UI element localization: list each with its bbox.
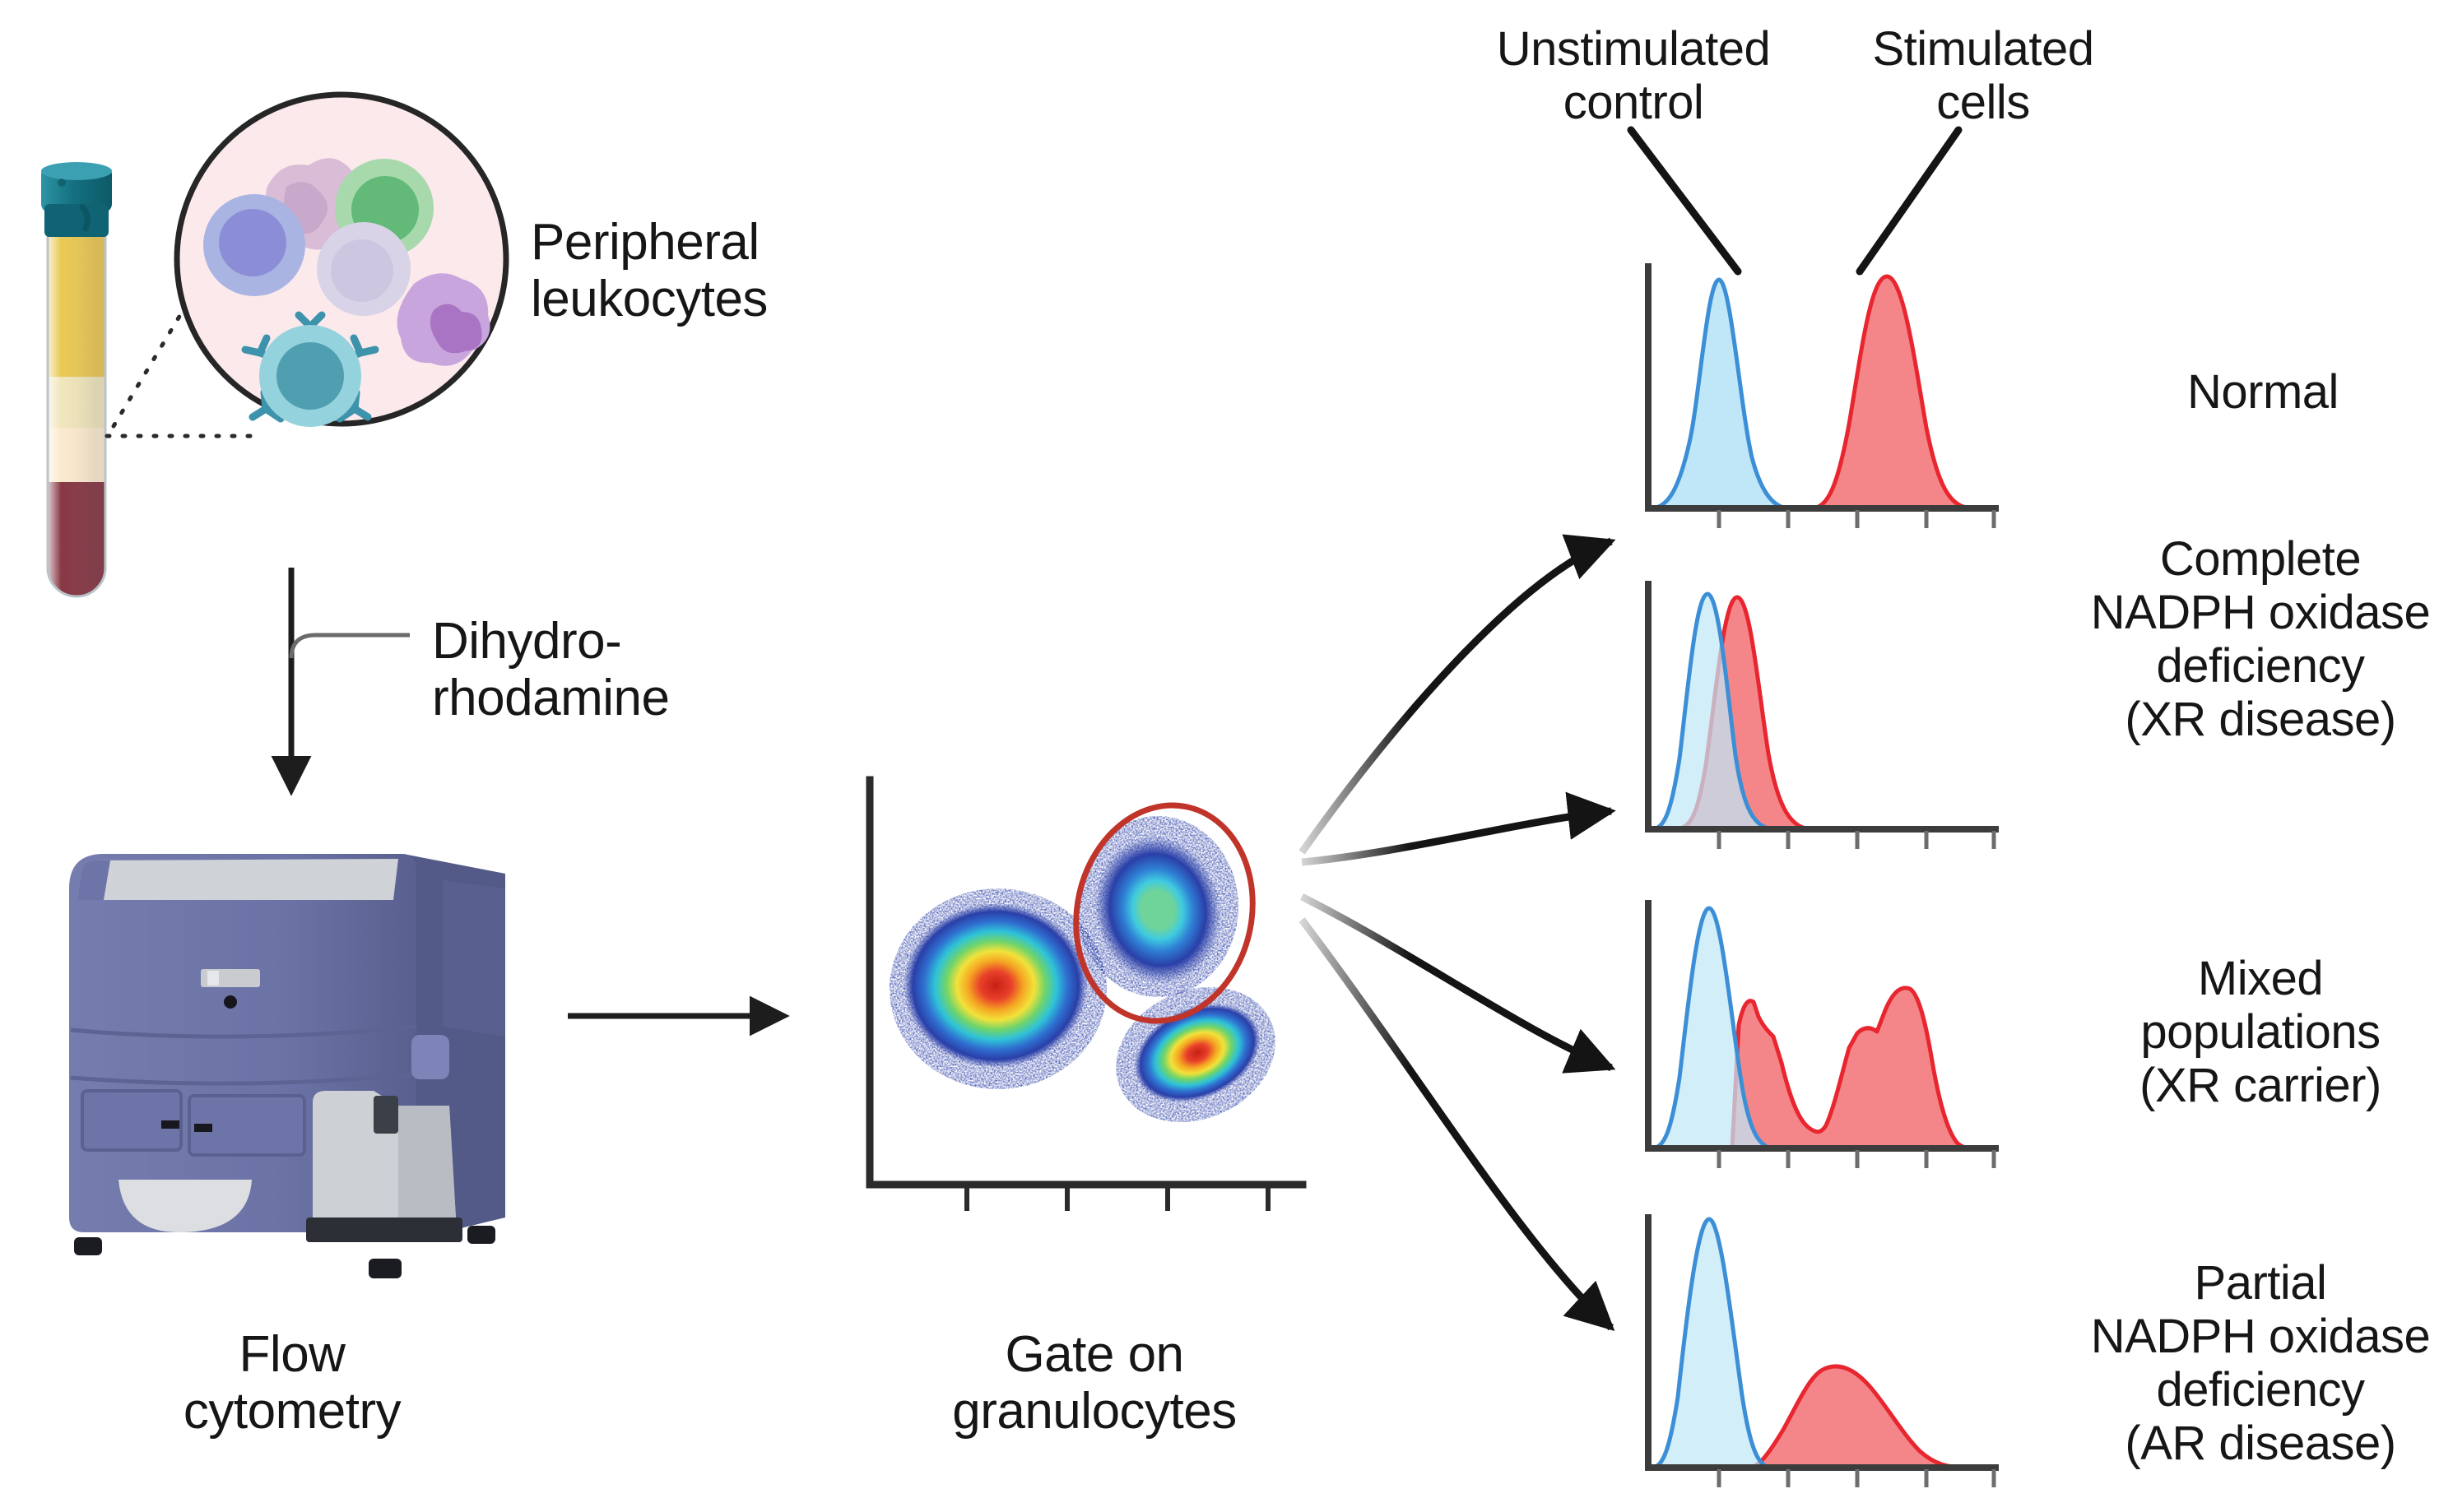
- flow-cytometry-line1: Flow: [99, 1326, 485, 1383]
- flow-cytometer-instrument: [39, 831, 541, 1292]
- arrow-to-normal-panel: [1302, 541, 1611, 852]
- panel-x-ticks-partial: [1719, 1469, 1994, 1487]
- panel-label-normal: Normal: [2082, 366, 2444, 420]
- panel-label-mixed-line1: Mixed: [2067, 953, 2453, 1006]
- panel-label-complete-deficiency: Complete NADPH oxidase deficiency (XR di…: [2067, 533, 2453, 747]
- gate-caption-line2: granulocytes: [864, 1383, 1325, 1440]
- stimulated-header-line2: cells: [1823, 77, 2144, 130]
- panel-label-partial-line2: NADPH oxidase: [2067, 1310, 2453, 1364]
- stimulated-cells-header: Stimulated cells: [1823, 23, 2144, 130]
- panel-label-normal-line1: Normal: [2082, 366, 2444, 420]
- instrument-to-scatter-arrow: [568, 991, 815, 1041]
- histogram-panel-mixed-populations: [1633, 887, 2024, 1179]
- peripheral-leukocytes-label: Peripheral leukocytes: [531, 214, 876, 328]
- dihydrorhodamine-line1: Dihydro-: [432, 613, 819, 670]
- gate-caption-line1: Gate on: [864, 1326, 1325, 1383]
- scatter-x-ticks: [967, 1187, 1268, 1211]
- unstimulated-curve-partial: [1652, 1219, 1772, 1468]
- leukocyte-lymphocyte: [203, 194, 305, 296]
- panel-x-ticks-complete: [1719, 831, 1994, 849]
- panel-label-mixed-line3: (XR carrier): [2067, 1060, 2453, 1113]
- unstimulated-control-header: Unstimulated control: [1456, 23, 1810, 130]
- histogram-panel-partial-deficiency: [1633, 1206, 2024, 1498]
- flow-cytometry-caption: Flow cytometry: [99, 1326, 485, 1440]
- arrow-to-complete-panel: [1302, 811, 1611, 862]
- panel-x-ticks-normal: [1719, 510, 1994, 528]
- panel-label-partial-line1: Partial: [2067, 1257, 2453, 1310]
- histogram-panel-complete-deficiency: [1633, 568, 2024, 860]
- scatter-population-monocytes: [1094, 962, 1297, 1147]
- peripheral-leukocytes-line2: leukocytes: [531, 271, 876, 327]
- peripheral-leukocyte-magnifier: [169, 86, 514, 432]
- unstimulated-header-line2: control: [1456, 77, 1810, 130]
- flow-cytometry-line2: cytometry: [99, 1383, 485, 1440]
- panel-label-partial-line3: deficiency: [2067, 1364, 2453, 1417]
- panel-label-partial-deficiency: Partial NADPH oxidase deficiency (AR dis…: [2067, 1257, 2453, 1471]
- panel-label-mixed-populations: Mixed populations (XR carrier): [2067, 953, 2453, 1113]
- panel-x-ticks-mixed: [1719, 1150, 1994, 1168]
- granulocyte-gating-scatter-plot: [852, 773, 1362, 1250]
- stimulated-curve-partial: [1749, 1366, 1966, 1468]
- figure-root: Peripheral leukocytes Dihydro- rhodamine: [0, 0, 2453, 1512]
- stimulated-curve-mixed: [1732, 988, 1986, 1149]
- histogram-panel-normal: [1633, 247, 2024, 539]
- dihydrorhodamine-label: Dihydro- rhodamine: [432, 613, 819, 727]
- peripheral-leukocytes-line1: Peripheral: [531, 214, 876, 271]
- stimulated-header-line1: Stimulated: [1823, 23, 2144, 77]
- stimulated-curve-normal: [1811, 276, 1971, 508]
- unstimulated-curve-normal: [1650, 280, 1790, 508]
- panel-label-complete-line3: deficiency: [2067, 640, 2453, 693]
- gate-to-panels-arrows: [1300, 329, 1687, 1382]
- panel-label-complete-line2: NADPH oxidase: [2067, 587, 2453, 640]
- dihydrorhodamine-line2: rhodamine: [432, 670, 819, 726]
- gate-on-granulocytes-caption: Gate on granulocytes: [864, 1326, 1325, 1440]
- leukocyte-basophil-gray: [317, 222, 411, 316]
- unstimulated-header-line1: Unstimulated: [1456, 23, 1810, 77]
- panel-label-complete-line4: (XR disease): [2067, 693, 2453, 747]
- panel-label-mixed-line2: populations: [2067, 1006, 2453, 1060]
- panel-label-partial-line4: (AR disease): [2067, 1417, 2453, 1471]
- panel-label-complete-line1: Complete: [2067, 533, 2453, 587]
